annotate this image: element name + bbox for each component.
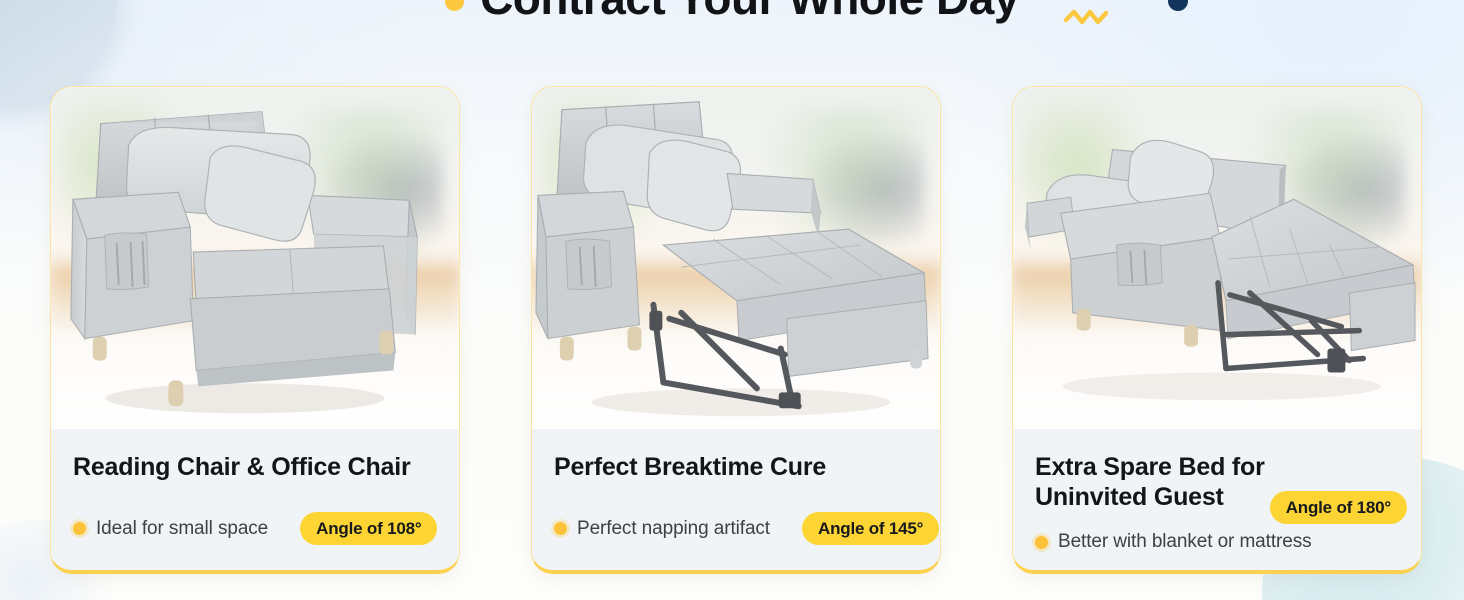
feature-card[interactable]: Reading Chair & Office Chair Ideal for s…: [50, 86, 460, 574]
product-photo: [1013, 87, 1421, 429]
yellow-dot-icon: [73, 522, 86, 535]
card-subtitle: Perfect napping artifact: [577, 518, 770, 540]
card-subtitle-row: Ideal for small space Angle of 108°: [73, 512, 441, 545]
card-subtitle: Better with blanket or mattress: [1058, 531, 1312, 553]
card-subtitle: Ideal for small space: [96, 518, 268, 540]
feature-card[interactable]: Perfect Breaktime Cure Perfect napping a…: [531, 86, 941, 574]
status-badge: Angle of 180°: [1270, 491, 1407, 524]
card-text-panel: Reading Chair & Office Chair Ideal for s…: [51, 429, 459, 574]
yellow-dot-icon: [445, 0, 464, 11]
product-photo: [51, 87, 459, 429]
yellow-squiggle-icon: [1063, 8, 1123, 30]
page-heading: Contract Your Whole Day: [0, 0, 1464, 28]
card-text-panel: Extra Spare Bed for Uninvited Guest Angl…: [1013, 429, 1421, 574]
status-badge: Angle of 145°: [802, 512, 939, 545]
armchair-illustration: [51, 87, 459, 429]
feature-card-list: Reading Chair & Office Chair Ideal for s…: [0, 0, 1464, 600]
card-title-line-2: Uninvited Guest: [1035, 483, 1224, 511]
card-title-line-1: Extra Spare Bed for: [1035, 453, 1265, 481]
feature-card[interactable]: Extra Spare Bed for Uninvited Guest Angl…: [1012, 86, 1422, 574]
card-text-panel: Perfect Breaktime Cure Perfect napping a…: [532, 429, 940, 574]
flat-bed-illustration: [1013, 87, 1421, 429]
card-subtitle-row: Better with blanket or mattress: [1035, 531, 1403, 553]
status-badge: Angle of 108°: [300, 512, 437, 545]
page-title: Contract Your Whole Day: [480, 0, 1019, 21]
product-photo: [532, 87, 940, 429]
chaise-lounge-illustration: [532, 87, 940, 429]
card-title: Reading Chair & Office Chair: [73, 453, 437, 483]
card-subtitle-row: Perfect napping artifact Angle of 145°: [554, 512, 922, 545]
yellow-dot-icon: [554, 522, 567, 535]
yellow-dot-icon: [1035, 536, 1048, 549]
card-title: Perfect Breaktime Cure: [554, 453, 918, 483]
